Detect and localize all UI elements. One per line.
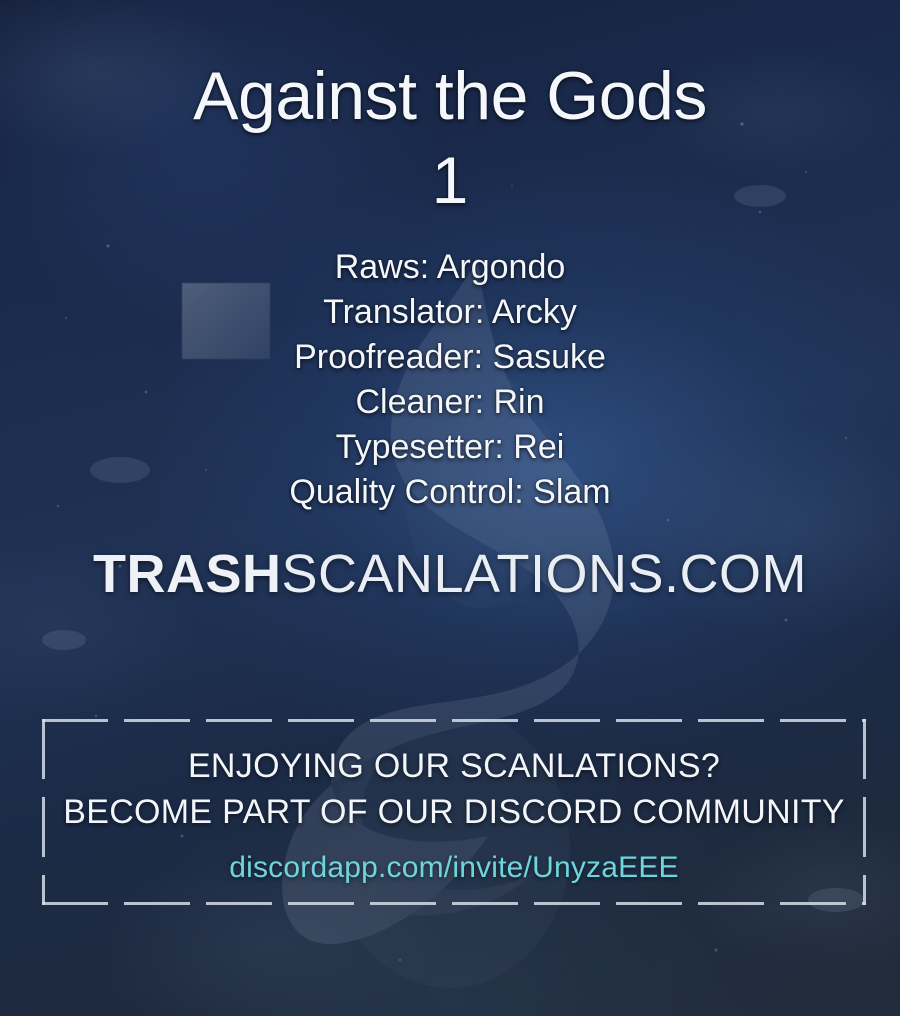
site-logo-bold-part: TRASH [93, 544, 282, 604]
frame-border-bottom [42, 902, 866, 905]
credit-line-quality-control: Quality Control: Slam [0, 470, 900, 515]
frame-border-top [42, 719, 866, 722]
credit-line-translator: Translator: Arcky [0, 290, 900, 335]
discord-promo-body: ENJOYING OUR SCANLATIONS? BECOME PART OF… [42, 743, 866, 887]
chapter-number: 1 [0, 142, 900, 218]
credit-line-proofreader: Proofreader: Sasuke [0, 335, 900, 380]
credit-line-cleaner: Cleaner: Rin [0, 380, 900, 425]
discord-promo-heading-line-2: BECOME PART OF OUR DISCORD COMMUNITY [42, 789, 866, 835]
discord-promo-heading-line-1: ENJOYING OUR SCANLATIONS? [42, 743, 866, 789]
content-layer: Against the Gods 1 Raws: Argondo Transla… [0, 0, 900, 1016]
credits-page: Against the Gods 1 Raws: Argondo Transla… [0, 0, 900, 1016]
credits-list: Raws: Argondo Translator: Arcky Proofrea… [0, 245, 900, 515]
site-logo-wordmark: TRASHSCANLATIONS.COM [0, 542, 900, 606]
page-title: Against the Gods [0, 58, 900, 134]
credit-line-typesetter: Typesetter: Rei [0, 425, 900, 470]
credit-line-raws: Raws: Argondo [0, 245, 900, 290]
site-logo-light-part: SCANLATIONS.COM [281, 544, 807, 604]
discord-promo-frame: ENJOYING OUR SCANLATIONS? BECOME PART OF… [42, 719, 866, 905]
discord-invite-link[interactable]: discordapp.com/invite/UnyzaEEE [42, 849, 866, 887]
